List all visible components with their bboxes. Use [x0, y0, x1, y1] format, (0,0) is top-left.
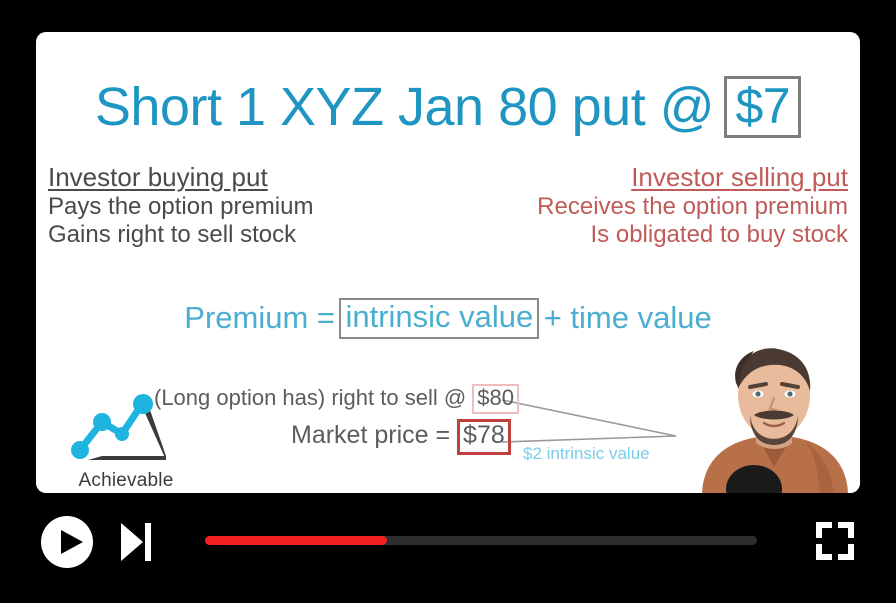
slide-title-text: Short 1 XYZ Jan 80 put @	[95, 77, 714, 137]
fullscreen-button[interactable]	[812, 518, 858, 564]
market-price-text: Market price =	[291, 421, 450, 449]
intrinsic-value-callout: $2 intrinsic value	[523, 444, 650, 464]
buyer-line-2: Gains right to sell stock	[48, 221, 438, 249]
fullscreen-icon[interactable]	[812, 518, 858, 564]
play-icon[interactable]	[40, 515, 94, 569]
seller-line-1: Receives the option premium	[438, 193, 848, 221]
market-price-row: Market price = $78	[291, 419, 511, 455]
premium-price-value: $7	[735, 78, 790, 134]
formula-trail: + time value	[544, 300, 712, 336]
achievable-wordmark: Achievable	[56, 470, 196, 492]
slide-title: Short 1 XYZ Jan 80 put @ $7	[36, 76, 860, 138]
skip-next-icon[interactable]	[115, 519, 155, 565]
presenter-webcam	[688, 343, 860, 493]
slide-canvas: Short 1 XYZ Jan 80 put @ $7 Investor buy…	[36, 32, 860, 493]
intrinsic-value-text: intrinsic value	[345, 301, 533, 334]
progress-bar[interactable]	[205, 536, 757, 545]
right-to-sell-text: (Long option has) right to sell @	[154, 385, 466, 410]
seller-column: Investor selling put Receives the option…	[438, 162, 848, 249]
achievable-logo: Achievable	[56, 390, 196, 493]
premium-formula: Premium = intrinsic value + time value	[36, 298, 860, 339]
formula-lead: Premium =	[184, 300, 335, 336]
progress-fill	[205, 536, 387, 545]
buyer-line-1: Pays the option premium	[48, 193, 438, 221]
premium-price-box: $7	[724, 76, 801, 138]
achievable-logo-icon	[66, 390, 186, 470]
buyer-heading: Investor buying put	[48, 162, 438, 193]
video-player: Short 1 XYZ Jan 80 put @ $7 Investor buy…	[0, 0, 896, 603]
play-button[interactable]	[40, 515, 94, 569]
seller-heading: Investor selling put	[438, 162, 848, 193]
strike-price-value: $80	[477, 385, 514, 410]
right-to-sell-row: (Long option has) right to sell @ $80	[154, 384, 519, 414]
market-price-value: $78	[463, 421, 505, 449]
seller-line-2: Is obligated to buy stock	[438, 221, 848, 249]
buyer-column: Investor buying put Pays the option prem…	[48, 162, 438, 249]
market-price-box: $78	[457, 419, 511, 455]
presenter-portrait	[688, 343, 860, 493]
strike-price-box: $80	[472, 384, 519, 414]
intrinsic-value-box: intrinsic value	[339, 298, 539, 339]
next-button[interactable]	[115, 519, 155, 565]
